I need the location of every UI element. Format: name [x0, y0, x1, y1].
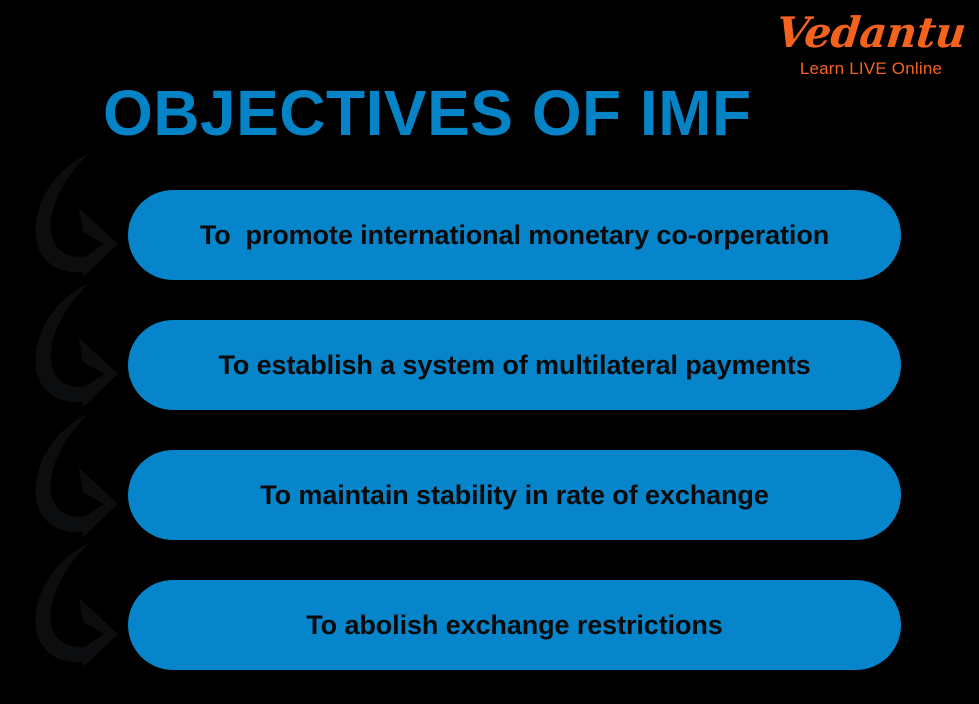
vedantu-logo-icon: Vedantu Learn LIVE Online: [771, 12, 971, 77]
objective-pill: To establish a system of multilateral pa…: [128, 320, 901, 410]
objective-pill: To maintain stability in rate of exchang…: [128, 450, 901, 540]
brand-wordmark: Vedantu: [769, 12, 973, 54]
objective-label: To establish a system of multilateral pa…: [218, 350, 810, 381]
brand-tagline: Learn LIVE Online: [771, 60, 971, 77]
objective-label: To abolish exchange restrictions: [306, 610, 722, 641]
objective-label: To maintain stability in rate of exchang…: [260, 480, 769, 511]
objective-label: To promote international monetary co-orp…: [200, 220, 829, 251]
page-title: OBJECTIVES OF IMF: [103, 76, 752, 150]
curved-arrow-right-icon: [26, 282, 122, 410]
curved-arrow-right-icon: [26, 152, 122, 280]
objective-pill: To promote international monetary co-orp…: [128, 190, 901, 280]
slide-canvas: Vedantu Learn LIVE Online OBJECTIVES OF …: [0, 0, 979, 704]
curved-arrow-right-icon: [26, 412, 122, 540]
objective-pill: To abolish exchange restrictions: [128, 580, 901, 670]
curved-arrow-right-icon: [26, 542, 122, 670]
